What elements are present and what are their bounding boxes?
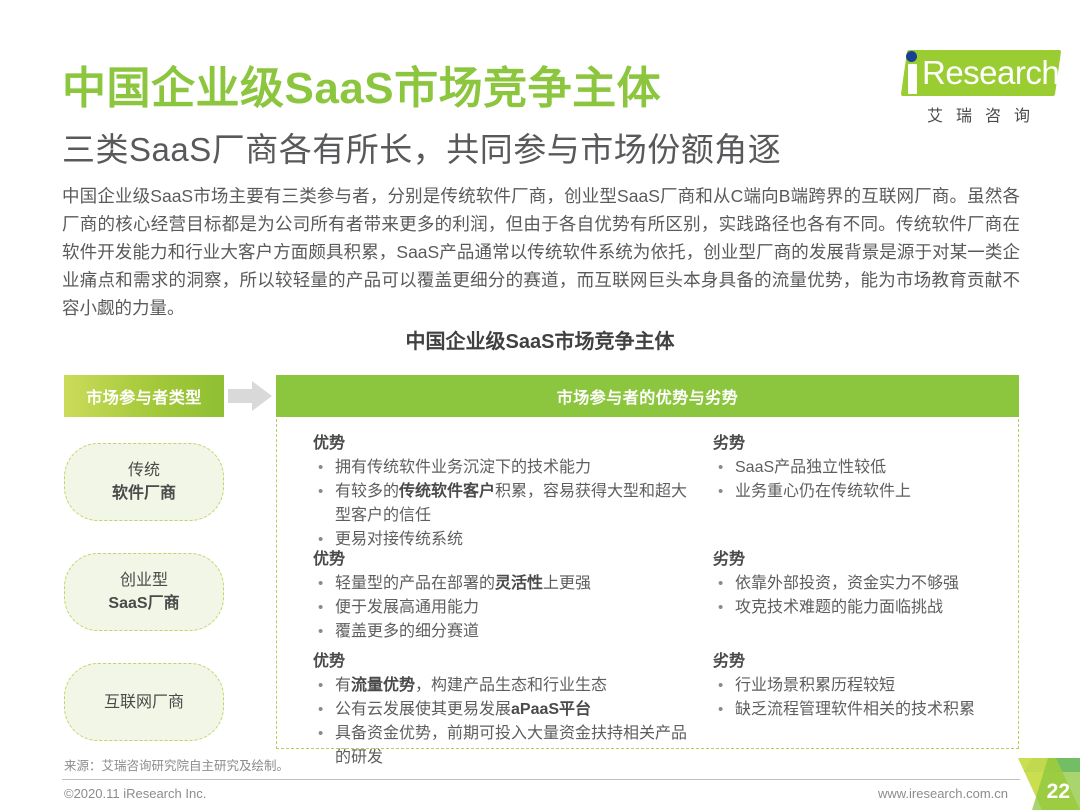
pros-cell: 优势 有流量优势，构建产品生态和行业生态公有云发展使其更易发展aPaaS平台具备… xyxy=(277,647,693,747)
list-item: 覆盖更多的细分赛道 xyxy=(313,620,693,644)
cons-list: 依靠外部投资，资金实力不够强攻克技术难题的能力面临挑战 xyxy=(713,572,1020,620)
slide-canvas: 中国企业级SaaS市场竞争主体 三类SaaS厂商各有所长，共同参与市场份额角逐 … xyxy=(0,0,1080,810)
pros-list: 轻量型的产品在部署的灵活性上更强便于发展高通用能力覆盖更多的细分赛道 xyxy=(313,572,693,644)
cons-heading: 劣势 xyxy=(713,647,1020,671)
list-item: 具备资金优势，前期可投入大量资金扶持相关产品的研发 xyxy=(313,722,693,770)
slide-header: 中国企业级SaaS市场竞争主体 三类SaaS厂商各有所长，共同参与市场份额角逐 … xyxy=(0,0,1080,178)
table-row: 优势 拥有传统软件业务沉淀下的技术能力有较多的传统软件客户积累，容易获得大型和超… xyxy=(277,429,1020,537)
table-header-participant-type: 市场参与者类型 xyxy=(64,375,224,417)
cons-heading: 劣势 xyxy=(713,545,1020,569)
pros-list: 有流量优势，构建产品生态和行业生态公有云发展使其更易发展aPaaS平台具备资金优… xyxy=(313,674,693,770)
cons-cell: 劣势 SaaS产品独立性较低业务重心仍在传统软件上 xyxy=(693,429,1020,537)
intro-paragraph: 中国企业级SaaS市场主要有三类参与者，分别是传统软件厂商，创业型SaaS厂商和… xyxy=(62,182,1020,322)
table-header-pros-cons: 市场参与者的优势与劣势 xyxy=(276,375,1019,417)
pill-line-2: SaaS厂商 xyxy=(108,592,179,615)
pros-cell: 优势 轻量型的产品在部署的灵活性上更强便于发展高通用能力覆盖更多的细分赛道 xyxy=(277,545,693,643)
logo-mark: Research xyxy=(872,48,1058,100)
cons-heading: 劣势 xyxy=(713,429,1020,453)
footer-divider xyxy=(62,779,1020,780)
logo-chinese-name: 艾瑞咨询 xyxy=(912,102,1058,126)
list-item: 行业场景积累历程较短 xyxy=(713,674,1020,698)
cons-list: 行业场景积累历程较短缺乏流程管理软件相关的技术积累 xyxy=(713,674,1020,722)
table-row: 优势 轻量型的产品在部署的灵活性上更强便于发展高通用能力覆盖更多的细分赛道 劣势… xyxy=(277,545,1020,643)
participant-type-pill-internet: 互联网厂商 xyxy=(64,663,224,741)
list-item: 便于发展高通用能力 xyxy=(313,596,693,620)
list-item: 有流量优势，构建产品生态和行业生态 xyxy=(313,674,693,698)
participant-type-pill-startup: 创业型 SaaS厂商 xyxy=(64,553,224,631)
table-row: 优势 有流量优势，构建产品生态和行业生态公有云发展使其更易发展aPaaS平台具备… xyxy=(277,647,1020,747)
page-subtitle: 三类SaaS厂商各有所长，共同参与市场份额角逐 xyxy=(62,123,781,171)
pros-cons-panel: 优势 拥有传统软件业务沉淀下的技术能力有较多的传统软件客户积累，容易获得大型和超… xyxy=(276,419,1019,749)
participant-type-pill-traditional: 传统 软件厂商 xyxy=(64,443,224,521)
list-item: 业务重心仍在传统软件上 xyxy=(713,480,1020,504)
pros-heading: 优势 xyxy=(313,647,693,671)
pros-heading: 优势 xyxy=(313,429,693,453)
page-title: 中国企业级SaaS市场竞争主体 xyxy=(62,52,661,116)
cons-cell: 劣势 依靠外部投资，资金实力不够强攻克技术难题的能力面临挑战 xyxy=(693,545,1020,643)
list-item: 依靠外部投资，资金实力不够强 xyxy=(713,572,1020,596)
list-item: 攻克技术难题的能力面临挑战 xyxy=(713,596,1020,620)
list-item: 公有云发展使其更易发展aPaaS平台 xyxy=(313,698,693,722)
list-item: 有较多的传统软件客户积累，容易获得大型和超大型客户的信任 xyxy=(313,480,693,528)
pill-line-2: 软件厂商 xyxy=(112,482,176,505)
pill-line-1: 互联网厂商 xyxy=(104,691,184,714)
logo-letter-i-icon xyxy=(908,64,917,94)
cons-list: SaaS产品独立性较低业务重心仍在传统软件上 xyxy=(713,456,1020,504)
figure-title: 中国企业级SaaS市场竞争主体 xyxy=(0,325,1080,354)
footer-website: www.iresearch.com.cn xyxy=(878,786,1008,801)
page-number: 22 xyxy=(1047,780,1070,804)
cons-cell: 劣势 行业场景积累历程较短缺乏流程管理软件相关的技术积累 xyxy=(693,647,1020,747)
pill-line-1: 创业型 xyxy=(108,569,179,592)
list-item: SaaS产品独立性较低 xyxy=(713,456,1020,480)
logo-wordmark: Research xyxy=(922,54,1059,92)
footer-copyright: ©2020.11 iResearch Inc. xyxy=(64,786,206,801)
source-note: 来源：艾瑞咨询研究院自主研究及绘制。 xyxy=(64,755,289,774)
list-item: 拥有传统软件业务沉淀下的技术能力 xyxy=(313,456,693,480)
pros-heading: 优势 xyxy=(313,545,693,569)
list-item: 轻量型的产品在部署的灵活性上更强 xyxy=(313,572,693,596)
list-item: 缺乏流程管理软件相关的技术积累 xyxy=(713,698,1020,722)
logo-dot-icon xyxy=(906,51,917,62)
pros-cell: 优势 拥有传统软件业务沉淀下的技术能力有较多的传统软件客户积累，容易获得大型和超… xyxy=(277,429,693,537)
pros-list: 拥有传统软件业务沉淀下的技术能力有较多的传统软件客户积累，容易获得大型和超大型客… xyxy=(313,456,693,552)
pill-line-1: 传统 xyxy=(112,459,176,482)
iresearch-logo: Research 艾瑞咨询 xyxy=(872,48,1058,128)
arrow-right-icon xyxy=(228,381,272,411)
